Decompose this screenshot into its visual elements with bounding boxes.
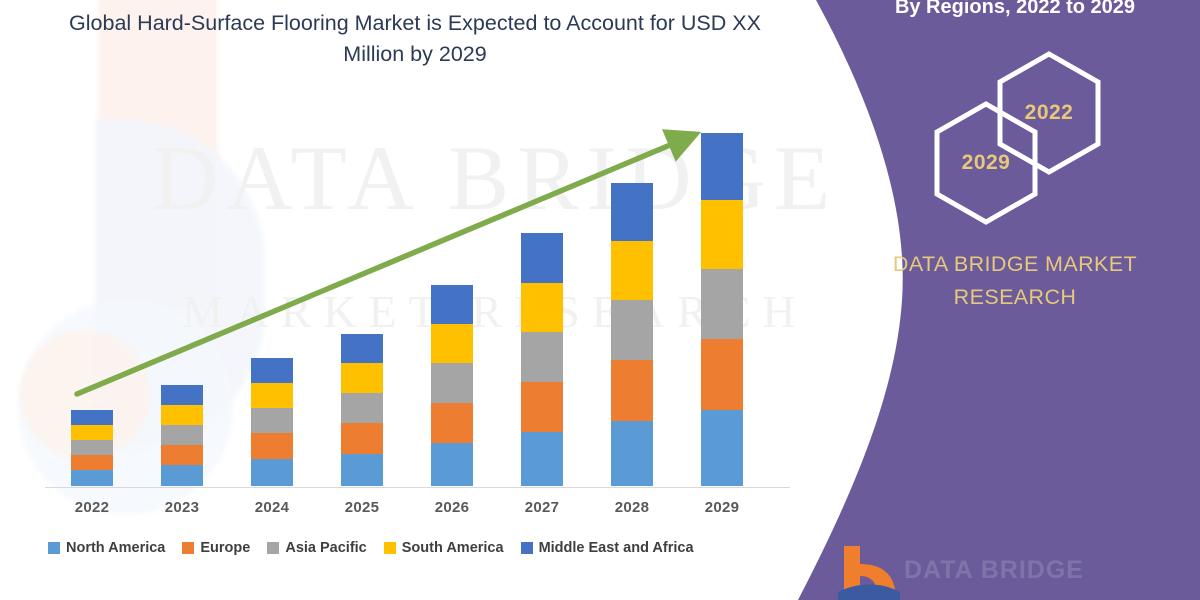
bar-segment (251, 433, 293, 459)
legend-item[interactable]: South America (384, 540, 504, 556)
bar-segment (611, 241, 653, 300)
legend-label: South America (402, 540, 504, 556)
logo-wordmark: DATA BRIDGE (904, 556, 1084, 585)
bar-segment (341, 393, 383, 423)
bar-segment (161, 465, 203, 486)
bridge-logo-icon (838, 542, 900, 600)
bar-segment (341, 334, 383, 363)
bar-segment (251, 459, 293, 486)
bar-segment (611, 421, 653, 486)
legend-label: Middle East and Africa (539, 540, 694, 556)
bar-segment (341, 423, 383, 454)
bar-segment (701, 200, 743, 269)
bar-segment (431, 403, 473, 443)
bar-segment (431, 443, 473, 486)
bar-segment (251, 408, 293, 433)
legend-label: Asia Pacific (285, 540, 366, 556)
bar-segment (611, 183, 653, 241)
bar-segment (701, 339, 743, 410)
brand-panel: By Regions, 2022 to 2029 2029 2022 DATA … (830, 0, 1200, 600)
x-axis-label-2028: 2028 (592, 499, 672, 516)
brand-line-2: RESEARCH (830, 281, 1200, 314)
bar-segment (71, 440, 113, 455)
bar-segment (251, 358, 293, 383)
legend-item[interactable]: Asia Pacific (267, 540, 366, 556)
bar-segment (431, 363, 473, 403)
x-axis-label-2029: 2029 (682, 499, 762, 516)
bar-2028[interactable] (611, 183, 653, 486)
brand-line-1: DATA BRIDGE MARKET (830, 248, 1200, 281)
x-axis-label-2022: 2022 (52, 499, 132, 516)
legend-swatch-icon (521, 542, 533, 554)
bar-segment (71, 425, 113, 440)
legend-item[interactable]: North America (48, 540, 165, 556)
x-axis-label-2025: 2025 (322, 499, 402, 516)
bar-segment (251, 383, 293, 408)
x-axis-line (45, 487, 790, 488)
bar-segment (611, 300, 653, 360)
x-axis-label-2027: 2027 (502, 499, 582, 516)
bar-segment (161, 425, 203, 445)
bar-segment (161, 405, 203, 425)
bar-segment (521, 332, 563, 382)
bar-segment (71, 455, 113, 470)
legend-swatch-icon (267, 542, 279, 554)
bar-segment (71, 470, 113, 486)
bar-2026[interactable] (431, 285, 473, 486)
x-axis-label-2026: 2026 (412, 499, 492, 516)
chart-plot-area: 20222023202420252026202720282029 (0, 0, 800, 600)
legend-item[interactable]: Europe (182, 540, 250, 556)
legend-label: Europe (200, 540, 250, 556)
x-axis-label-2023: 2023 (142, 499, 222, 516)
bar-segment (701, 410, 743, 486)
bar-segment (161, 385, 203, 405)
hexagon-badges: 2029 2022 (830, 78, 1200, 228)
legend-swatch-icon (182, 542, 194, 554)
bar-2023[interactable] (161, 385, 203, 486)
bar-segment (71, 410, 113, 425)
bar-segment (521, 432, 563, 486)
legend-item[interactable]: Middle East and Africa (521, 540, 694, 556)
bar-segment (431, 324, 473, 363)
company-logo: DATA BRIDGE (838, 538, 1168, 600)
brand-name: DATA BRIDGE MARKET RESEARCH (830, 248, 1200, 315)
bar-segment (611, 360, 653, 421)
legend-swatch-icon (384, 542, 396, 554)
bar-segment (161, 445, 203, 465)
bar-segment (521, 233, 563, 283)
legend-swatch-icon (48, 542, 60, 554)
panel-title: By Regions, 2022 to 2029 (830, 0, 1200, 21)
bar-segment (701, 133, 743, 200)
bar-2029[interactable] (701, 133, 743, 486)
bar-segment (341, 454, 383, 486)
hexagon-label-end: 2022 (993, 50, 1105, 176)
bar-2027[interactable] (521, 233, 563, 486)
bar-segment (521, 283, 563, 332)
chart-legend: North AmericaEuropeAsia PacificSouth Ame… (48, 540, 788, 556)
hexagon-badge-2022: 2022 (993, 50, 1105, 176)
bar-2024[interactable] (251, 358, 293, 486)
bar-segment (521, 382, 563, 432)
bar-2025[interactable] (341, 334, 383, 486)
bar-segment (431, 285, 473, 324)
bar-segment (701, 269, 743, 339)
infographic-canvas: DATA BRIDGE MARKET RESEARCH Global Hard-… (0, 0, 1200, 600)
bar-2022[interactable] (71, 410, 113, 486)
bar-segment (341, 363, 383, 393)
legend-label: North America (66, 540, 165, 556)
x-axis-label-2024: 2024 (232, 499, 312, 516)
